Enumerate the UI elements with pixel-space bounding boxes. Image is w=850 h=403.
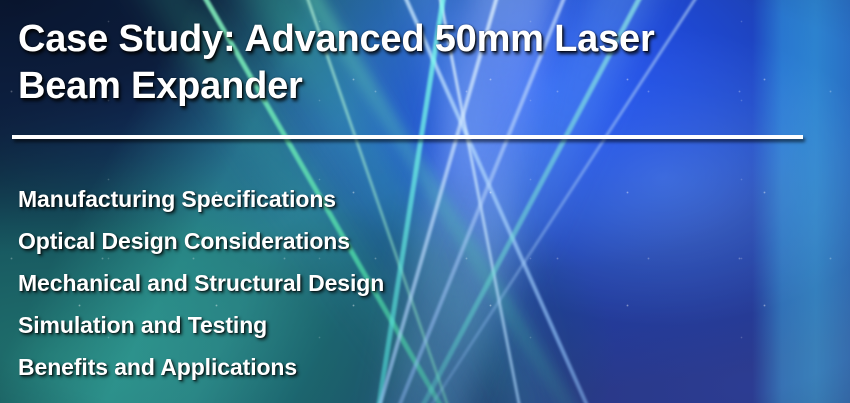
list-item-benefits-and-applications: Benefits and Applications: [18, 346, 384, 388]
list-item-optical-design-considerations: Optical Design Considerations: [18, 220, 384, 262]
slide-title: Case Study: Advanced 50mm Laser Beam Exp…: [18, 16, 788, 110]
agenda-list: Manufacturing Specifications Optical Des…: [18, 178, 384, 388]
list-item-simulation-and-testing: Simulation and Testing: [18, 304, 384, 346]
list-item-manufacturing-specifications: Manufacturing Specifications: [18, 178, 384, 220]
slide-content: Case Study: Advanced 50mm Laser Beam Exp…: [0, 0, 850, 403]
title-divider-rule: [12, 135, 803, 139]
list-item-mechanical-and-structural-design: Mechanical and Structural Design: [18, 262, 384, 304]
slide-canvas: Case Study: Advanced 50mm Laser Beam Exp…: [0, 0, 850, 403]
